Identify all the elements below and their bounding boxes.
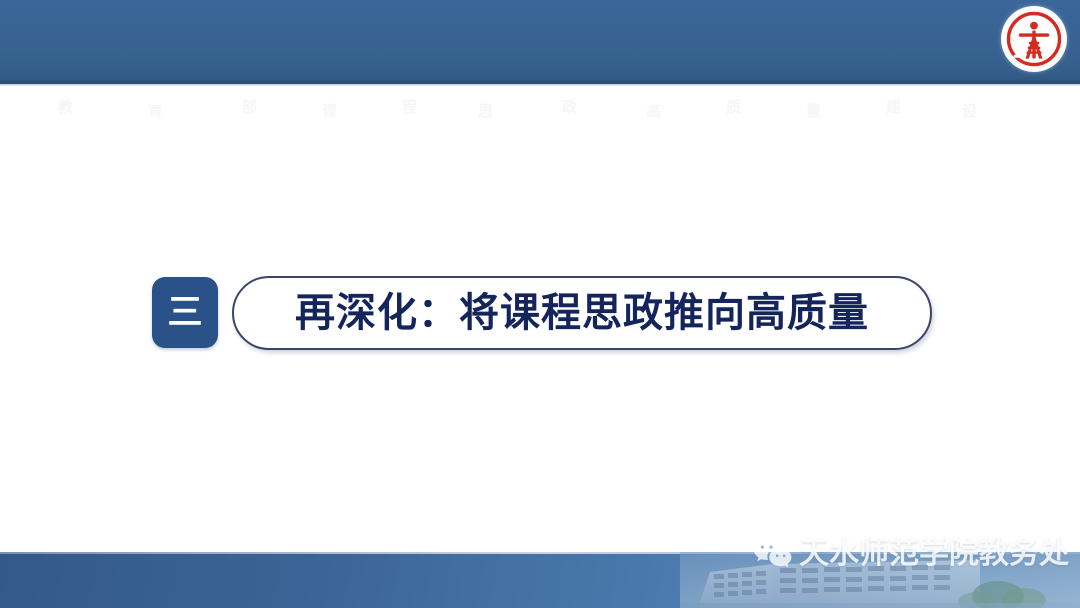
background-mark: 教 bbox=[58, 96, 75, 117]
background-mark: 高 bbox=[646, 100, 663, 121]
background-mark: 思 bbox=[478, 100, 495, 121]
slide-heading-row: 三 再深化：将课程思政推向高质量 bbox=[152, 276, 934, 350]
slide-footer-band: 中华人民共和国教育部 Ministry of Education of the … bbox=[0, 552, 1080, 608]
background-mark: 质 bbox=[726, 96, 743, 117]
campus-building-photo-icon bbox=[680, 552, 1080, 608]
slide-heading-pill: 再深化：将课程思政推向高质量 bbox=[232, 276, 932, 350]
tianshui-university-ladder-emblem-icon bbox=[1001, 6, 1067, 72]
background-mark: 程 bbox=[402, 96, 419, 117]
background-mark: 课 bbox=[322, 100, 339, 121]
background-mark: 设 bbox=[962, 100, 979, 121]
presentation-slide: 教 育 部 课 程 思 政 高 质 量 建 设 三 再深化：将课程思政推向高质量 bbox=[0, 0, 1080, 608]
page-title: 再深化：将课程思政推向高质量 bbox=[295, 293, 869, 333]
background-mark: 量 bbox=[806, 100, 823, 121]
slide-header-hairline bbox=[0, 84, 1080, 86]
section-number-badge: 三 bbox=[152, 277, 218, 348]
background-mark: 建 bbox=[886, 96, 903, 117]
background-mark: 育 bbox=[148, 100, 165, 121]
slide-header-band bbox=[0, 0, 1080, 84]
background-mark: 政 bbox=[562, 96, 579, 117]
background-mark: 部 bbox=[242, 96, 259, 117]
